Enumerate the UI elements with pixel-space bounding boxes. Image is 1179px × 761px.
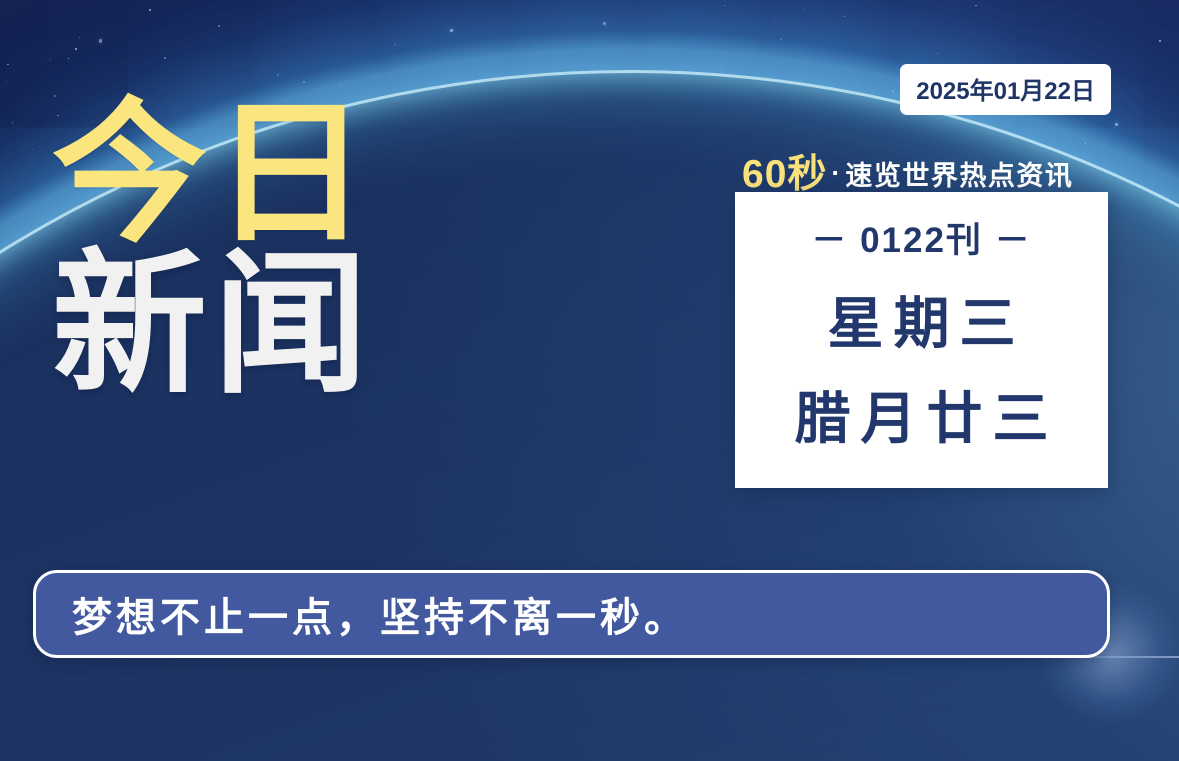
star-icon <box>774 19 775 20</box>
star-icon <box>1115 123 1118 126</box>
star-icon <box>892 90 894 92</box>
tagline-separator: · <box>827 158 845 188</box>
star-icon <box>856 84 857 85</box>
tagline-seconds: 60秒 <box>742 153 827 196</box>
star-icon <box>1159 40 1161 42</box>
star-icon <box>1085 142 1086 143</box>
date-badge: 2025年01月22日 <box>900 64 1111 115</box>
star-icon <box>720 63 721 64</box>
star-icon <box>6 82 7 83</box>
page-title: 今日 新闻 <box>52 100 374 400</box>
star-icon <box>277 74 279 76</box>
star-icon <box>218 25 220 27</box>
star-icon <box>414 70 415 71</box>
star-icon <box>394 44 395 45</box>
star-icon <box>603 22 606 25</box>
star-icon <box>164 57 166 59</box>
star-icon <box>50 59 51 60</box>
headline-line-news: 新闻 <box>52 251 374 400</box>
quote-banner: 梦想不止一点，坚持不离一秒。 <box>33 570 1110 658</box>
star-icon <box>68 58 69 59</box>
star-icon <box>32 149 33 150</box>
headline-line-today: 今日 <box>52 100 374 249</box>
star-icon <box>7 64 8 65</box>
star-icon <box>937 53 938 54</box>
tagline-description: 速览世界热点资讯 <box>845 161 1073 191</box>
star-icon <box>99 39 102 42</box>
star-icon <box>975 5 976 6</box>
info-card: － 0122刊 － 星期三 腊月廿三 <box>735 192 1108 488</box>
star-icon <box>149 9 151 11</box>
star-icon <box>79 37 80 38</box>
star-icon <box>12 122 13 123</box>
poster-stage: 今日 新闻 2025年01月22日 60秒·速览世界热点资讯 － 0122刊 －… <box>0 0 1179 761</box>
star-icon <box>803 9 804 10</box>
star-icon <box>724 5 725 6</box>
weekday-label: 星期三 <box>818 279 1026 360</box>
star-icon <box>780 38 782 40</box>
tagline: 60秒·速览世界热点资讯 <box>742 143 1073 199</box>
lunar-date-label: 腊月廿三 <box>785 374 1059 455</box>
star-icon <box>450 29 453 32</box>
issue-number: － 0122刊 － <box>811 212 1031 263</box>
star-icon <box>75 48 76 49</box>
quote-text: 梦想不止一点，坚持不离一秒。 <box>36 585 688 643</box>
star-icon <box>844 16 845 17</box>
